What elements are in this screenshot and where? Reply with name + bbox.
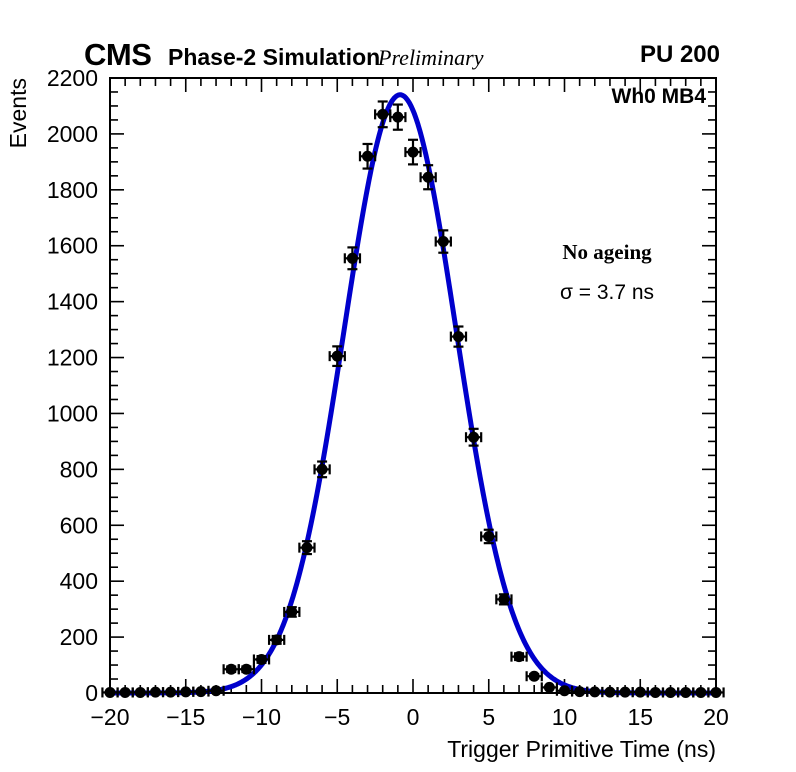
data-point bbox=[315, 462, 330, 478]
marker bbox=[195, 686, 206, 697]
data-point bbox=[224, 664, 239, 675]
plot-page: CMS Phase-2 Simulation Preliminary PU 20… bbox=[0, 0, 796, 772]
y-tick-label: 0 bbox=[85, 680, 98, 706]
marker bbox=[150, 687, 161, 698]
data-point bbox=[542, 682, 557, 693]
data-point bbox=[148, 687, 163, 698]
y-tick-label: 1400 bbox=[47, 289, 98, 315]
x-tick-label: 0 bbox=[407, 704, 420, 730]
data-point bbox=[527, 671, 542, 682]
marker bbox=[423, 172, 434, 183]
marker bbox=[589, 686, 600, 697]
gaussian-fit-curve bbox=[110, 95, 716, 693]
y-tick-label: 1800 bbox=[47, 177, 98, 203]
marker bbox=[347, 253, 358, 264]
data-point bbox=[633, 687, 648, 698]
data-point bbox=[663, 687, 678, 698]
data-point bbox=[451, 327, 466, 347]
y-tick-label: 1200 bbox=[47, 345, 98, 371]
marker bbox=[514, 651, 525, 662]
y-tick-label: 800 bbox=[60, 456, 98, 482]
marker bbox=[529, 671, 540, 682]
x-tick-label: −5 bbox=[324, 704, 350, 730]
data-point bbox=[133, 687, 148, 698]
x-tick-label: 10 bbox=[552, 704, 578, 730]
data-point bbox=[511, 651, 526, 662]
marker bbox=[544, 682, 555, 693]
data-point bbox=[602, 687, 617, 698]
x-tick-label: 15 bbox=[627, 704, 653, 730]
y-axis-ticks: 0200400600800100012001400160018002000220… bbox=[47, 65, 716, 706]
marker bbox=[286, 606, 297, 617]
data-point bbox=[299, 541, 314, 554]
plot-frame bbox=[110, 78, 716, 693]
data-point bbox=[118, 687, 133, 698]
marker bbox=[180, 686, 191, 697]
marker bbox=[635, 687, 646, 698]
x-axis-title: Trigger Primitive Time (ns) bbox=[447, 736, 716, 762]
marker bbox=[483, 531, 494, 542]
marker bbox=[620, 687, 631, 698]
y-tick-label: 600 bbox=[60, 512, 98, 538]
marker bbox=[468, 432, 479, 443]
marker bbox=[271, 634, 282, 645]
marker bbox=[377, 109, 388, 120]
marker bbox=[241, 664, 252, 675]
marker bbox=[408, 147, 419, 158]
y-tick-label: 2000 bbox=[47, 121, 98, 147]
data-point bbox=[466, 429, 481, 446]
data-point bbox=[648, 687, 663, 698]
data-point bbox=[436, 230, 451, 252]
x-tick-label: −20 bbox=[90, 704, 129, 730]
data-point bbox=[708, 687, 723, 698]
y-tick-label: 200 bbox=[60, 624, 98, 650]
marker bbox=[438, 236, 449, 247]
marker bbox=[105, 687, 116, 698]
data-point bbox=[693, 687, 708, 698]
y-tick-label: 1000 bbox=[47, 400, 98, 426]
marker bbox=[120, 687, 131, 698]
y-tick-label: 1600 bbox=[47, 233, 98, 259]
data-point bbox=[587, 686, 602, 697]
axis-frame bbox=[110, 78, 716, 693]
marker bbox=[392, 112, 403, 123]
marker bbox=[604, 687, 615, 698]
x-tick-label: 5 bbox=[482, 704, 495, 730]
data-point bbox=[405, 140, 420, 165]
marker bbox=[695, 687, 706, 698]
marker bbox=[574, 686, 585, 697]
data-point bbox=[102, 687, 117, 698]
marker bbox=[650, 687, 661, 698]
marker bbox=[559, 685, 570, 696]
marker bbox=[256, 654, 267, 665]
fit-curve-path bbox=[110, 95, 716, 693]
y-tick-label: 400 bbox=[60, 568, 98, 594]
data-point bbox=[193, 686, 208, 697]
marker bbox=[301, 542, 312, 553]
data-point bbox=[163, 687, 178, 698]
marker bbox=[226, 664, 237, 675]
marker bbox=[498, 594, 509, 605]
x-tick-label: −15 bbox=[166, 704, 205, 730]
marker bbox=[680, 687, 691, 698]
x-axis-ticks: −20−15−10−505101520 bbox=[90, 78, 728, 730]
marker bbox=[135, 687, 146, 698]
data-point bbox=[269, 634, 284, 645]
sigma-label: σ = 3.7 ns bbox=[560, 281, 654, 304]
data-points-group bbox=[102, 101, 723, 697]
marker bbox=[665, 687, 676, 698]
marker bbox=[211, 685, 222, 696]
chart-canvas: −20−15−10−505101520 02004006008001000120… bbox=[0, 0, 796, 772]
marker bbox=[317, 464, 328, 475]
data-point bbox=[390, 105, 405, 130]
y-tick-label: 2200 bbox=[47, 65, 98, 91]
x-tick-label: −10 bbox=[242, 704, 281, 730]
data-point bbox=[678, 687, 693, 698]
data-point bbox=[618, 687, 633, 698]
marker bbox=[165, 687, 176, 698]
marker bbox=[332, 351, 343, 362]
marker bbox=[453, 331, 464, 342]
marker bbox=[362, 151, 373, 162]
x-tick-label: 20 bbox=[703, 704, 729, 730]
ageing-label: No ageing bbox=[562, 240, 652, 264]
chamber-label: Wh0 MB4 bbox=[612, 85, 707, 108]
marker bbox=[711, 687, 722, 698]
y-axis-title: Events bbox=[5, 78, 31, 148]
data-point bbox=[178, 686, 193, 697]
